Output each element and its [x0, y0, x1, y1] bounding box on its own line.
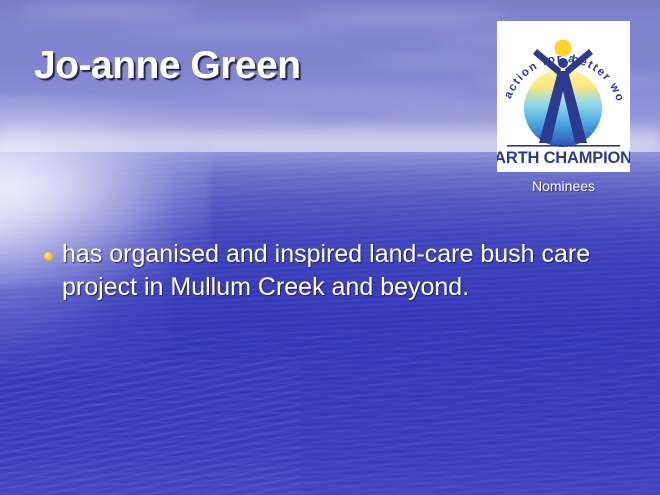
bullet-text: has organised and inspired land-care bus… — [62, 238, 630, 304]
water-ripple-texture — [0, 360, 300, 495]
slide-body: has organised and inspired land-care bus… — [40, 238, 630, 304]
cloud-wisp — [210, 88, 470, 100]
logo-wordmark: EARTH CHAMPIONS — [497, 149, 630, 167]
bullet-dot-icon — [44, 252, 53, 261]
presentation-slide: Jo-anne Green has organised and inspired… — [0, 0, 660, 495]
logo-divider — [507, 145, 620, 147]
cloud-wisp — [360, 56, 520, 66]
cloud-wisp — [300, 10, 510, 24]
sun-icon — [555, 40, 572, 57]
bullet-item: has organised and inspired land-care bus… — [40, 238, 630, 304]
earth-champions-logo-svg: action for a better world — [497, 21, 630, 172]
logo-caption: Nominees — [497, 178, 630, 194]
slide-title: Jo-anne Green — [34, 44, 301, 88]
cloud-wisp — [18, 4, 198, 20]
cloud-wisp — [120, 26, 350, 37]
logo-image: action for a better world — [497, 21, 630, 172]
earth-champions-logo-block: action for a better world — [497, 21, 630, 194]
